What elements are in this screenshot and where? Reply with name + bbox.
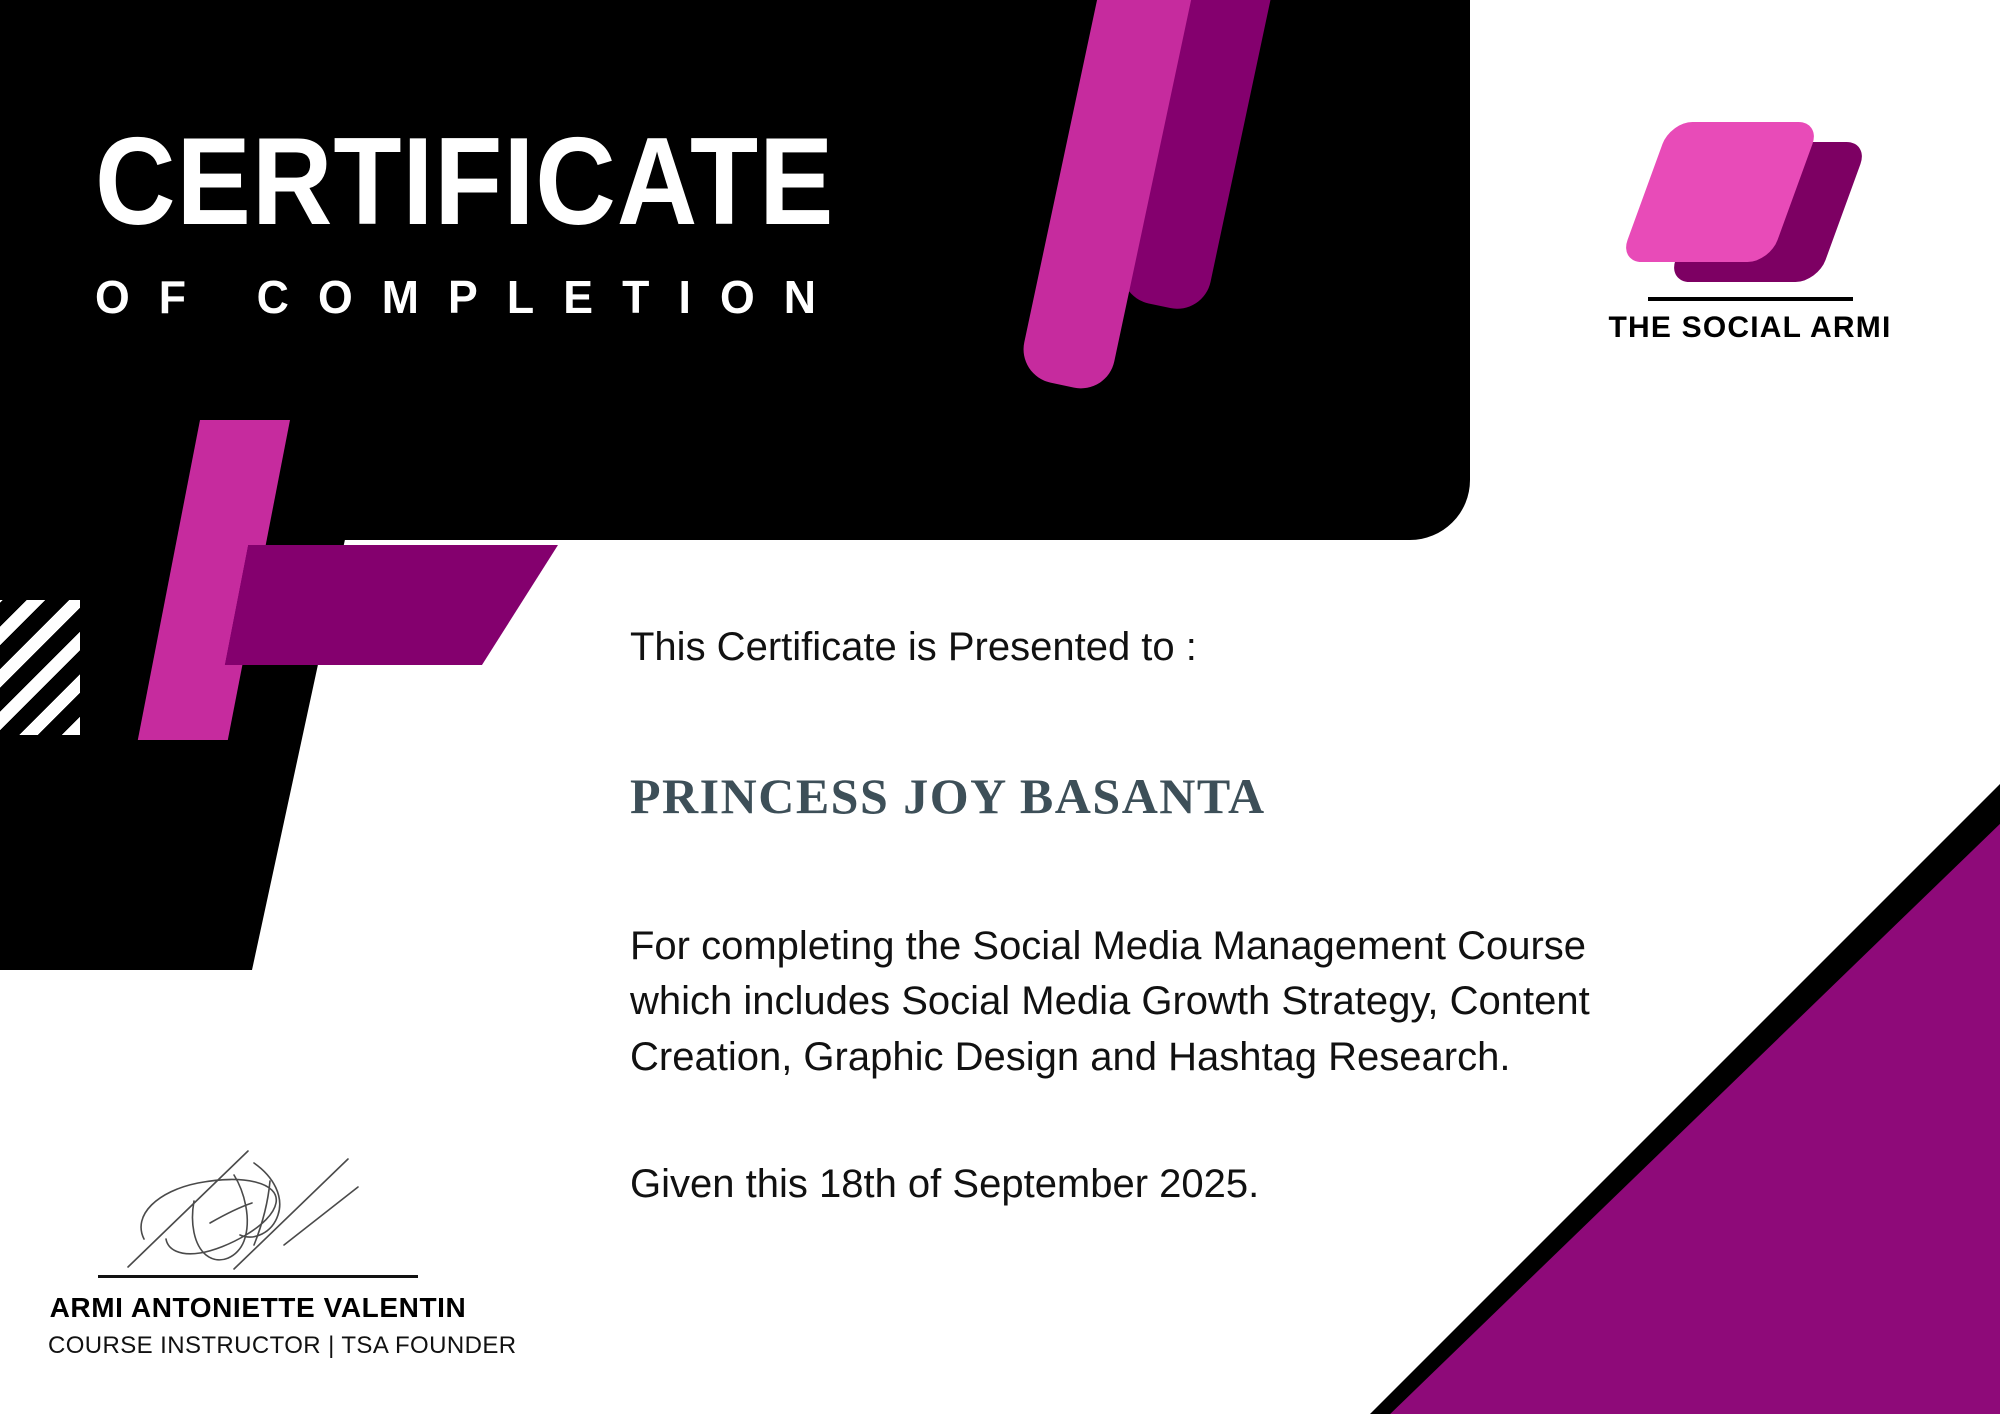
page-title: CERTIFICATE — [95, 120, 1085, 244]
overlapping-parallelograms-logo-icon — [1625, 100, 1875, 285]
signer-name: ARMI ANTONIETTE VALENTIN — [48, 1292, 468, 1324]
diagonal-stripes-pattern — [0, 600, 80, 735]
certificate-body: This Certificate is Presented to : PRINC… — [630, 620, 1690, 1212]
logo-divider-rule — [1648, 297, 1853, 301]
purple-banner-shape — [225, 545, 558, 665]
certificate-document: CERTIFICATE OF COMPLETION THE SOCIAL ARM… — [0, 0, 2000, 1414]
presented-to-label: This Certificate is Presented to : — [630, 620, 1690, 675]
brand-logo-block: THE SOCIAL ARMI — [1600, 100, 1900, 345]
signature-divider-rule — [98, 1275, 418, 1278]
issue-date-line: Given this 18th of September 2025. — [630, 1157, 1690, 1212]
course-description: For completing the Social Media Manageme… — [630, 919, 1640, 1085]
signer-role: COURSE INSTRUCTOR | TSA FOUNDER — [48, 1332, 468, 1360]
certificate-title-block: CERTIFICATE OF COMPLETION — [95, 120, 1195, 324]
handwritten-signature-icon — [48, 1145, 468, 1275]
signature-block: ARMI ANTONIETTE VALENTIN COURSE INSTRUCT… — [48, 1145, 468, 1360]
recipient-name: PRINCESS JOY BASANTA — [630, 767, 1690, 825]
brand-name: THE SOCIAL ARMI — [1600, 311, 1900, 345]
page-subtitle: OF COMPLETION — [95, 270, 1162, 324]
